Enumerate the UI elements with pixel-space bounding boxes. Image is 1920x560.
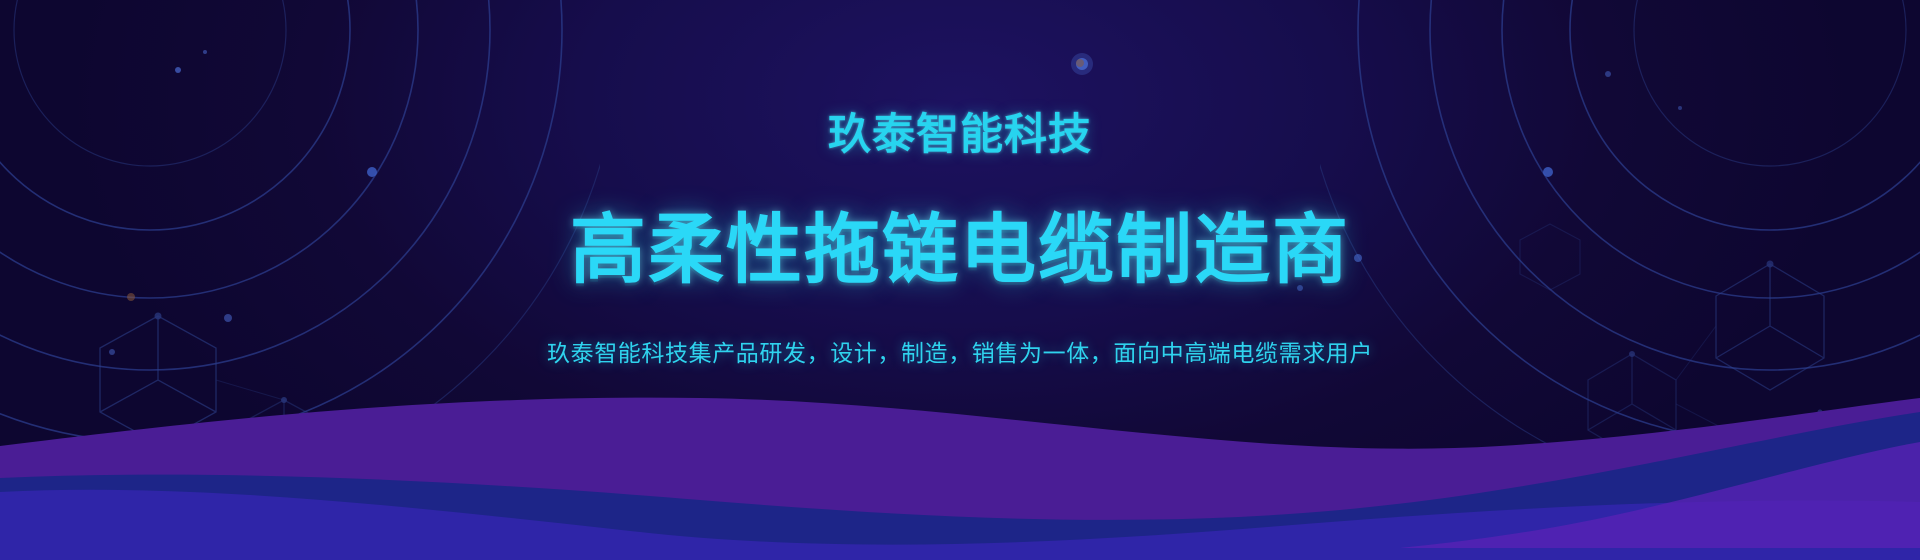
hero-subline: 玖泰智能科技集产品研发，设计，制造，销售为一体，面向中高端电缆需求用户 [547, 334, 1373, 368]
hero-content: 玖泰智能科技 高柔性拖链电缆制造商 玖泰智能科技集产品研发，设计，制造，销售为一… [0, 0, 1920, 560]
hero-headline: 高柔性拖链电缆制造商 [570, 188, 1350, 298]
hero-eyebrow: 玖泰智能科技 [828, 100, 1092, 162]
hero-banner: 玖泰智能科技 高柔性拖链电缆制造商 玖泰智能科技集产品研发，设计，制造，销售为一… [0, 0, 1920, 560]
